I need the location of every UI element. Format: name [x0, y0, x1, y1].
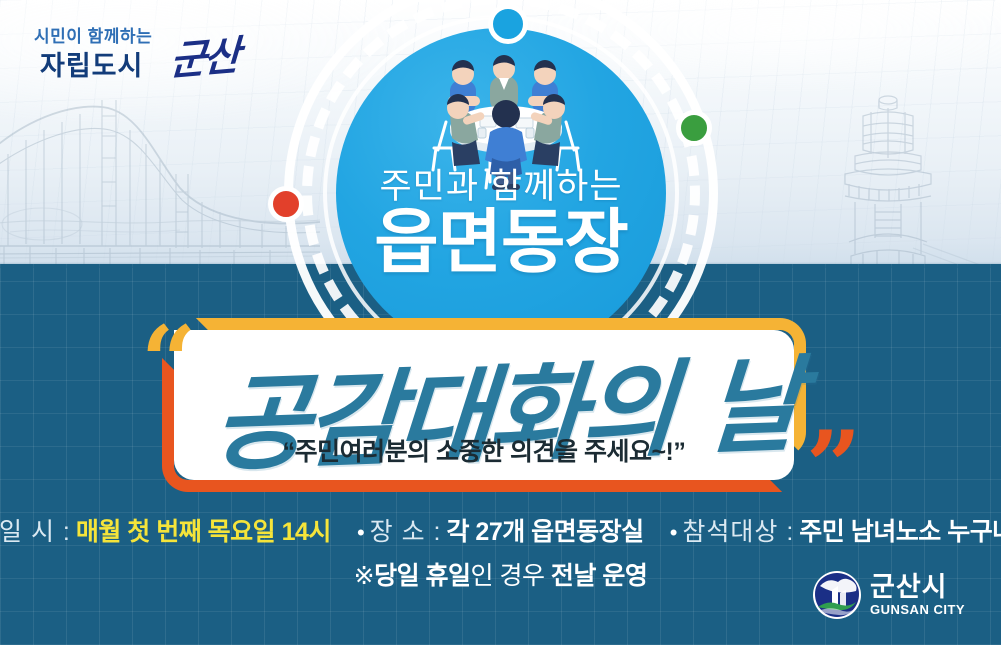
logo-korean-name: 군산시 — [870, 574, 965, 601]
circle-headline-line1: 주민과 함께하는 — [284, 168, 718, 205]
info-item-place: • 장 소 : 각 27개 읍면동장실 — [357, 512, 644, 548]
ring-dot-green — [676, 110, 712, 146]
info-label-datetime: 일 시 : — [0, 512, 71, 548]
info-label-place: 장 소 : — [370, 512, 442, 548]
circle-headline: 주민과 함께하는 읍면동장 — [284, 168, 718, 278]
info-item-datetime: • 일 시 : 매월 첫 번째 목요일 14시 — [0, 512, 331, 548]
info-value-datetime: 매월 첫 번째 목요일 14시 — [76, 512, 331, 548]
bridge-watermark-icon — [0, 96, 320, 276]
logo-english-name: GUNSAN CITY — [870, 603, 965, 616]
slogan-brand-gunsan: 군산 — [169, 23, 239, 87]
slogan-line2: 자립도시 — [40, 44, 143, 83]
gunsan-city-logo: 군산시 GUNSAN CITY — [812, 568, 988, 622]
note-mark: ※ — [354, 562, 374, 590]
main-subtitle: “주민여러분의 소중한 의견을 주세요~!” — [174, 432, 794, 468]
info-value-place: 각 27개 읍면동장실 — [446, 512, 643, 548]
info-label-audience: 참석대상 : — [682, 512, 794, 548]
circle-headline-line2: 읍면동장 — [284, 207, 718, 278]
city-slogan: 시민이 함께하는 자립도시 군산 — [22, 22, 282, 84]
gunsan-emblem-icon — [812, 570, 862, 620]
bullet-icon: • — [670, 522, 678, 544]
quote-open-mark: “ — [141, 327, 196, 396]
bullet-icon: • — [357, 522, 365, 544]
poster-root: 시민이 함께하는 자립도시 군산 — [0, 0, 1001, 645]
lighthouse-watermark-icon — [793, 78, 983, 274]
note-bold-2: 전날 운영 — [551, 562, 647, 590]
note-bold-1: 당일 휴일 — [374, 562, 470, 590]
logo-text-block: 군산시 GUNSAN CITY — [870, 574, 965, 616]
note-plain-1: 인 경우 — [471, 562, 551, 590]
ring-dot-blue — [488, 4, 528, 44]
